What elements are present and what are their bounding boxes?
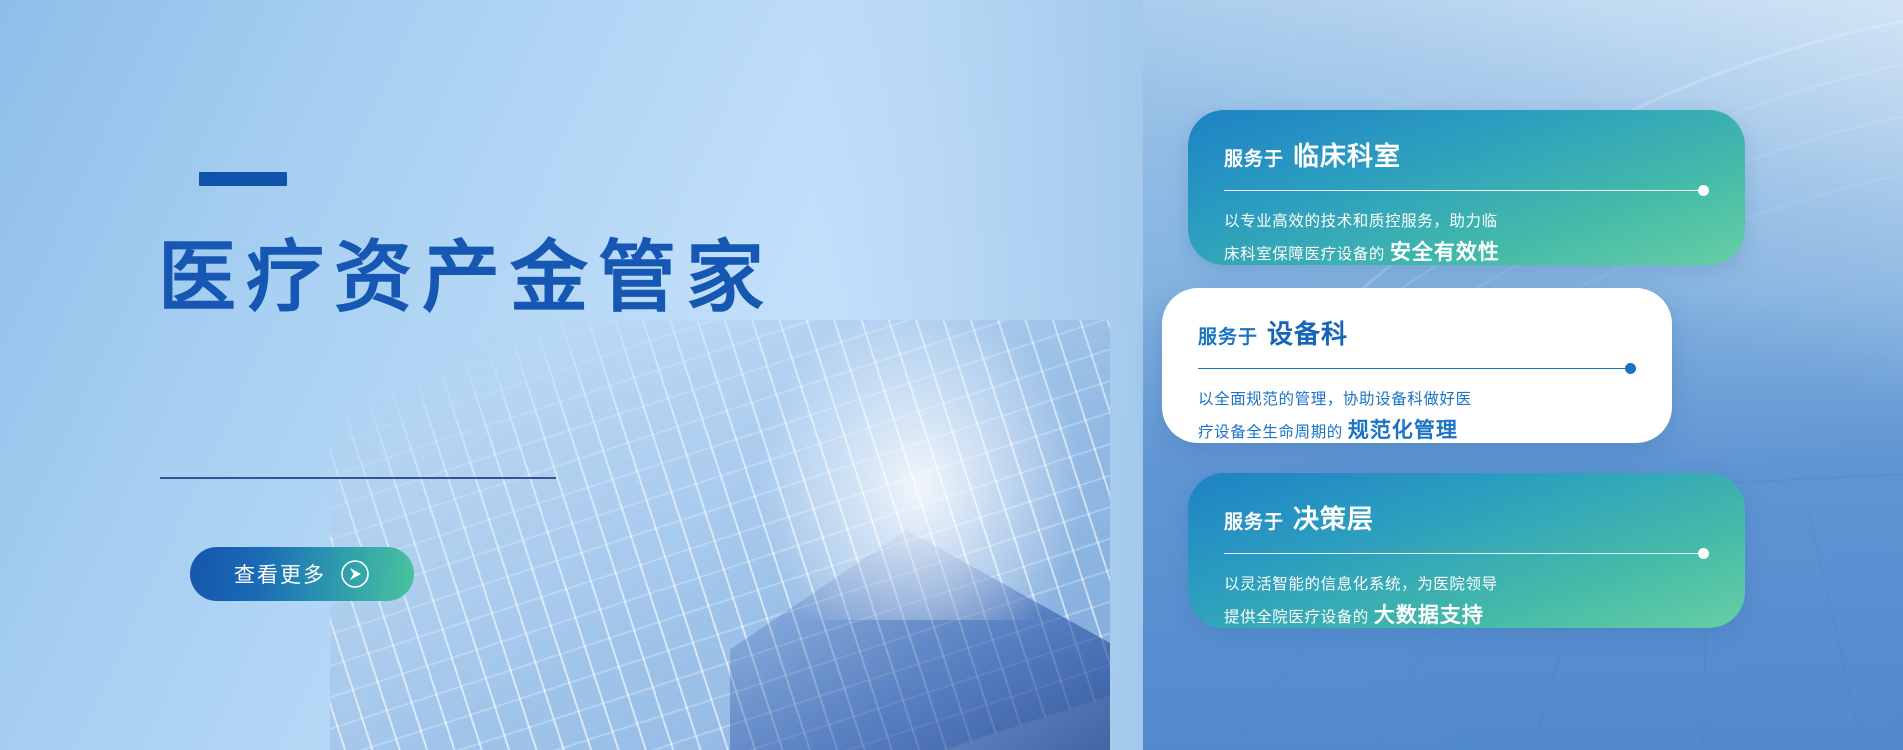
service-card-heading: 服务于 设备科 <box>1198 314 1636 351</box>
service-card-highlight: 规范化管理 <box>1348 419 1458 442</box>
service-card-highlight: 大数据支持 <box>1374 604 1484 627</box>
service-card-line2-lead: 疗设备全生命周期的 <box>1198 424 1343 441</box>
service-card-title: 设备科 <box>1267 314 1348 351</box>
service-card-line2-lead: 提供全院医疗设备的 <box>1224 609 1369 626</box>
rule-line <box>1224 553 1698 554</box>
hero-left-column: 医疗资产金管家 查看更多 <box>0 0 900 750</box>
accent-dash <box>199 172 287 186</box>
rule-end-dot <box>1625 363 1636 374</box>
service-card-prefix: 服务于 <box>1224 144 1284 171</box>
service-card-line2: 床科室保障医疗设备的 安全有效性 <box>1224 235 1709 270</box>
service-card-heading: 服务于 临床科室 <box>1224 136 1709 173</box>
rule-end-dot <box>1698 548 1709 559</box>
service-card-line1: 以灵活智能的信息化系统，为医院领导 <box>1224 572 1709 598</box>
service-card-equipment[interactable]: 服务于 设备科 以全面规范的管理，协助设备科做好医 疗设备全生命周期的 规范化管… <box>1162 288 1672 443</box>
service-card-line2-lead: 床科室保障医疗设备的 <box>1224 246 1385 263</box>
service-card-heading: 服务于 决策层 <box>1224 499 1709 536</box>
service-card-line1: 以专业高效的技术和质控服务，助力临 <box>1224 209 1709 235</box>
rule-end-dot <box>1698 185 1709 196</box>
service-card-line2: 提供全院医疗设备的 大数据支持 <box>1224 598 1709 633</box>
service-card-rule <box>1224 548 1709 559</box>
page-title: 医疗资产金管家 <box>158 238 774 316</box>
hero-banner: 医疗资产金管家 查看更多 服务于 临床科室 以专业高效的技术和质控服务，助力临 … <box>0 0 1903 750</box>
service-card-title: 临床科室 <box>1293 136 1401 173</box>
rule-line <box>1198 368 1625 369</box>
title-divider <box>160 477 556 479</box>
view-more-label: 查看更多 <box>234 559 326 589</box>
service-card-line2: 疗设备全生命周期的 规范化管理 <box>1198 413 1636 448</box>
service-card-title: 决策层 <box>1293 499 1374 536</box>
service-card-clinical[interactable]: 服务于 临床科室 以专业高效的技术和质控服务，助力临 床科室保障医疗设备的 安全… <box>1188 110 1745 265</box>
service-card-body: 以专业高效的技术和质控服务，助力临 床科室保障医疗设备的 安全有效性 <box>1224 209 1709 270</box>
rule-line <box>1224 190 1698 191</box>
arrow-right-circle-icon <box>340 559 370 589</box>
service-card-body: 以灵活智能的信息化系统，为医院领导 提供全院医疗设备的 大数据支持 <box>1224 572 1709 633</box>
service-card-highlight: 安全有效性 <box>1390 241 1500 264</box>
service-card-body: 以全面规范的管理，协助设备科做好医 疗设备全生命周期的 规范化管理 <box>1198 387 1636 448</box>
service-card-prefix: 服务于 <box>1224 507 1284 534</box>
service-card-rule <box>1198 363 1636 374</box>
service-card-prefix: 服务于 <box>1198 322 1258 349</box>
service-card-decision[interactable]: 服务于 决策层 以灵活智能的信息化系统，为医院领导 提供全院医疗设备的 大数据支… <box>1188 473 1745 628</box>
service-card-rule <box>1224 185 1709 196</box>
view-more-button[interactable]: 查看更多 <box>190 547 414 601</box>
service-card-line1: 以全面规范的管理，协助设备科做好医 <box>1198 387 1636 413</box>
